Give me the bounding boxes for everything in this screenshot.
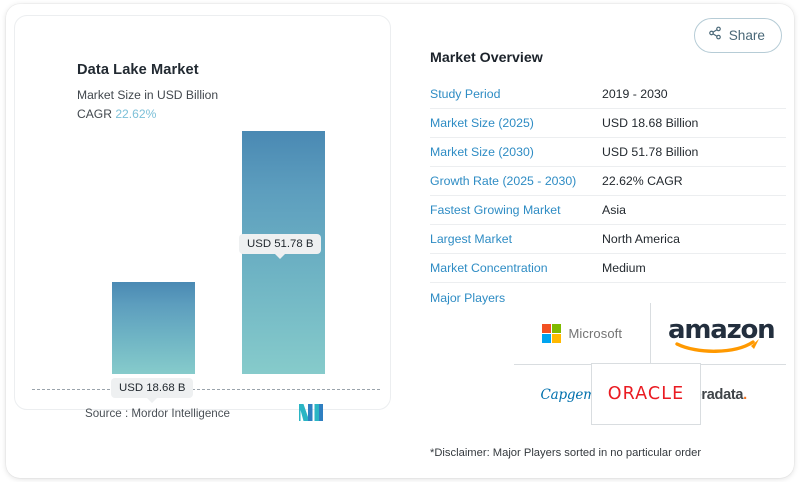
cagr-label: CAGR xyxy=(77,107,112,121)
table-row: Fastest Growing Market Asia xyxy=(430,196,786,225)
disclaimer-text: *Disclaimer: Major Players sorted in no … xyxy=(430,447,701,459)
row-label: Study Period xyxy=(430,87,602,101)
row-label: Largest Market xyxy=(430,232,602,246)
row-value: 2019 - 2030 xyxy=(602,87,668,101)
chart-title: Data Lake Market xyxy=(77,62,199,78)
chart-subtitle: Market Size in USD Billion xyxy=(77,88,218,102)
table-row: Market Concentration Medium xyxy=(430,254,786,283)
amazon-swoosh-icon xyxy=(675,337,761,354)
teradata-dot: . xyxy=(743,387,747,403)
row-label: Growth Rate (2025 - 2030) xyxy=(430,174,602,188)
microsoft-squares-icon xyxy=(542,324,562,344)
oracle-wordmark: ORACLE xyxy=(608,384,685,404)
row-value: 22.62% CAGR xyxy=(602,174,683,188)
logo-microsoft: Microsoft xyxy=(514,303,650,364)
chart-source: Source : Mordor Intelligence xyxy=(85,407,230,420)
table-row: Market Size (2030) USD 51.78 Billion xyxy=(430,138,786,167)
market-summary-card: Share Data Lake Market Market Size in US… xyxy=(6,4,794,478)
row-label: Market Size (2030) xyxy=(430,145,602,159)
row-value: Asia xyxy=(602,203,626,217)
bar-2025[interactable] xyxy=(112,282,195,374)
reference-line xyxy=(32,389,380,390)
market-overview-panel: Market Overview Study Period 2019 - 2030… xyxy=(430,50,786,312)
logo-amazon: amazon xyxy=(650,303,786,364)
row-value: USD 18.68 Billion xyxy=(602,116,698,130)
table-row: Study Period 2019 - 2030 xyxy=(430,80,786,109)
overview-title: Market Overview xyxy=(430,50,786,66)
bar-label-2030: USD 51.78 B xyxy=(239,234,321,254)
bar-chart-plot: USD 18.68 B USD 51.78 B 2025 2030 xyxy=(15,124,392,374)
cagr-value: 22.62% xyxy=(115,107,156,121)
row-label: Market Size (2025) xyxy=(430,116,602,130)
row-label: Fastest Growing Market xyxy=(430,203,602,217)
chart-cagr: CAGR 22.62% xyxy=(77,107,156,121)
share-button-label: Share xyxy=(729,28,765,43)
table-row: Market Size (2025) USD 18.68 Billion xyxy=(430,109,786,138)
chart-panel: Data Lake Market Market Size in USD Bill… xyxy=(14,15,391,410)
bar-label-2025: USD 18.68 B xyxy=(111,378,193,398)
row-value: USD 51.78 Billion xyxy=(602,145,698,159)
share-button[interactable]: Share xyxy=(694,18,782,53)
mordor-intelligence-logo xyxy=(299,404,323,421)
logo-oracle: ORACLE xyxy=(591,363,701,425)
row-label: Market Concentration xyxy=(430,261,602,275)
row-value: North America xyxy=(602,232,680,246)
share-nodes-icon xyxy=(708,26,722,45)
table-row: Largest Market North America xyxy=(430,225,786,254)
microsoft-wordmark: Microsoft xyxy=(568,326,622,341)
row-value: Medium xyxy=(602,261,646,275)
table-row: Growth Rate (2025 - 2030) 22.62% CAGR xyxy=(430,167,786,196)
